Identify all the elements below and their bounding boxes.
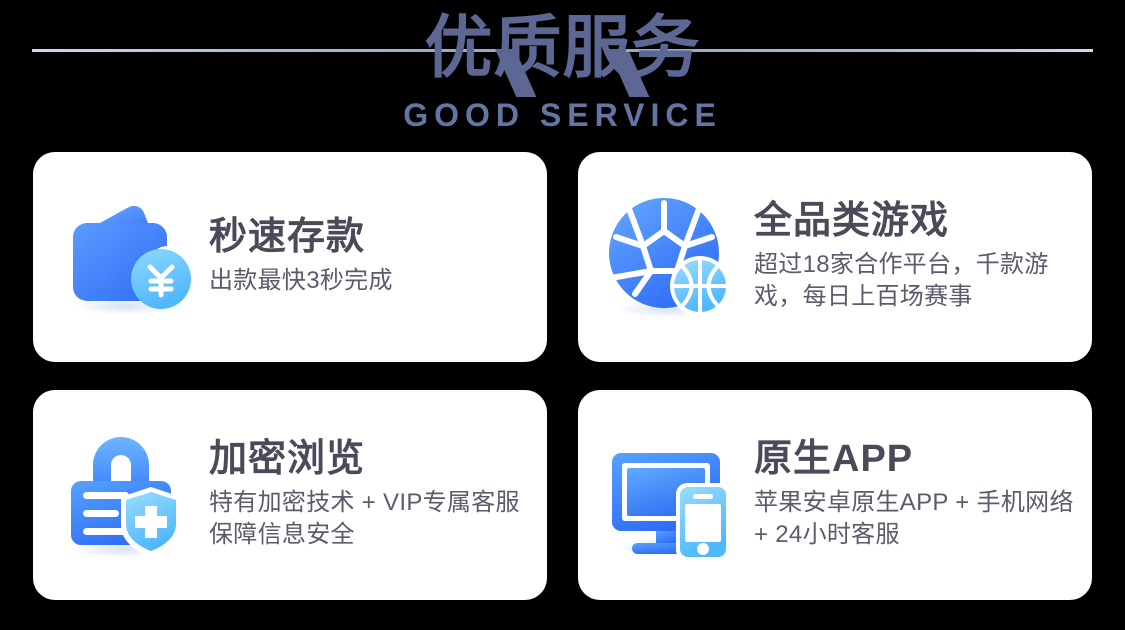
promo-banner: 优质服务 GOOD SERVICE [0,0,1125,630]
card-subtitle: 出款最快3秒完成 [209,265,533,298]
feature-card-text: 秒速存款 出款最快3秒完成 [203,216,533,297]
card-subtitle: 特有加密技术 + VIP专属客服保障信息安全 [209,487,533,552]
card-title: 秒速存款 [209,216,533,259]
card-subtitle: 苹果安卓原生APP + 手机网络 + 24小时客服 [754,487,1078,552]
feature-card-native-app[interactable]: 原生APP 苹果安卓原生APP + 手机网络 + 24小时客服 [578,390,1092,600]
feature-card-encryption[interactable]: 加密浏览 特有加密技术 + VIP专属客服保障信息安全 [33,390,547,600]
feature-card-text: 原生APP 苹果安卓原生APP + 手机网络 + 24小时客服 [748,438,1078,552]
page-subtitle: GOOD SERVICE [0,99,1125,131]
card-title: 原生APP [754,438,1078,481]
feature-card-deposit[interactable]: 秒速存款 出款最快3秒完成 [33,152,547,362]
monitor-phone-icon [600,421,748,569]
lock-shield-icon [55,421,203,569]
feature-card-text: 加密浏览 特有加密技术 + VIP专属客服保障信息安全 [203,438,533,552]
card-title: 加密浏览 [209,438,533,481]
header: 优质服务 GOOD SERVICE [0,0,1125,148]
page-title: 优质服务 [0,14,1125,82]
soccer-basketball-icon [600,183,748,331]
feature-card-games[interactable]: 全品类游戏 超过18家合作平台，千款游戏，每日上百场赛事 [578,152,1092,362]
wallet-yen-icon [55,183,203,331]
card-subtitle: 超过18家合作平台，千款游戏，每日上百场赛事 [754,249,1078,314]
card-title: 全品类游戏 [754,200,1078,243]
feature-card-text: 全品类游戏 超过18家合作平台，千款游戏，每日上百场赛事 [748,200,1078,314]
feature-card-grid: 秒速存款 出款最快3秒完成 [33,152,1092,600]
